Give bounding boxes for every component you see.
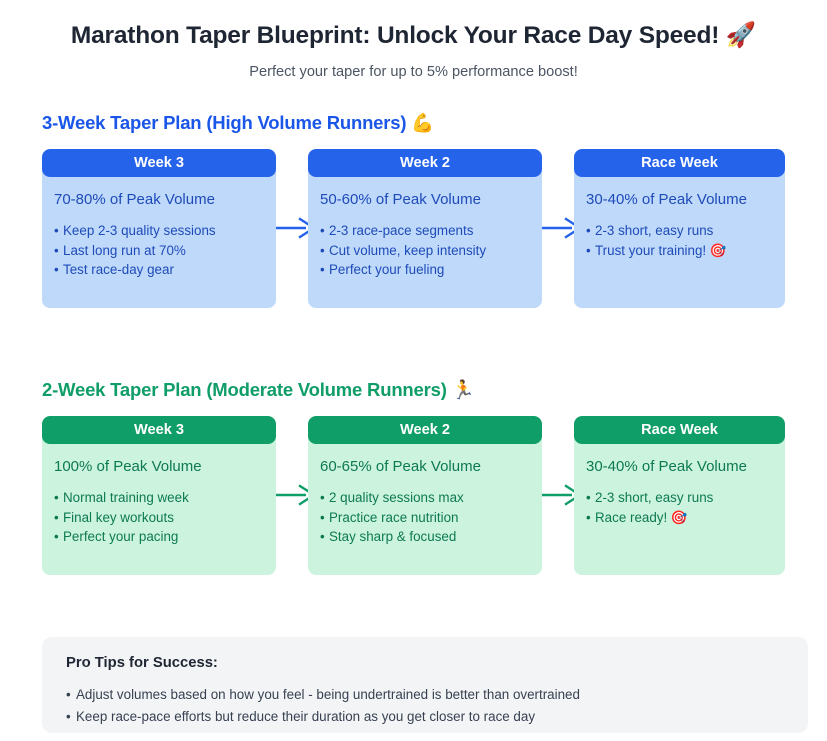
section-two-week-taper: 2-Week Taper Plan (Moderate Volume Runne… bbox=[0, 379, 827, 578]
list-item: Practice race nutrition bbox=[320, 508, 530, 528]
card-week-2-blue: Week 2 50-60% of Peak Volume 2-3 race-pa… bbox=[308, 149, 542, 308]
card-volume-text: 50-60% of Peak Volume bbox=[320, 191, 530, 209]
card-bullet-list: 2-3 short, easy runs Trust your training… bbox=[586, 221, 773, 260]
card-week-3-green: Week 3 100% of Peak Volume Normal traini… bbox=[42, 416, 276, 575]
list-item: 2 quality sessions max bbox=[320, 488, 530, 508]
card-header-label: Week 3 bbox=[42, 416, 276, 444]
card-body: 70-80% of Peak Volume Keep 2-3 quality s… bbox=[42, 177, 276, 280]
list-item: Keep race-pace efforts but reduce their … bbox=[66, 706, 784, 728]
list-item: 2-3 race-pace segments bbox=[320, 221, 530, 241]
list-item: Keep 2-3 quality sessions bbox=[54, 221, 264, 241]
cards-row-two-week: Week 3 100% of Peak Volume Normal traini… bbox=[42, 416, 785, 578]
list-item: Cut volume, keep intensity bbox=[320, 241, 530, 261]
card-bullet-list: Normal training week Final key workouts … bbox=[54, 488, 264, 547]
cards-row-three-week: Week 3 70-80% of Peak Volume Keep 2-3 qu… bbox=[42, 149, 785, 311]
section-three-week-taper: 3-Week Taper Plan (High Volume Runners) … bbox=[0, 112, 827, 311]
card-week-2-green: Week 2 60-65% of Peak Volume 2 quality s… bbox=[308, 416, 542, 575]
pro-tips-list: Adjust volumes based on how you feel - b… bbox=[66, 684, 784, 728]
card-body: 50-60% of Peak Volume 2-3 race-pace segm… bbox=[308, 177, 542, 280]
card-body: 60-65% of Peak Volume 2 quality sessions… bbox=[308, 444, 542, 547]
card-bullet-list: 2-3 race-pace segments Cut volume, keep … bbox=[320, 221, 530, 280]
card-week-3-blue: Week 3 70-80% of Peak Volume Keep 2-3 qu… bbox=[42, 149, 276, 308]
list-item: Last long run at 70% bbox=[54, 241, 264, 261]
card-body: 30-40% of Peak Volume 2-3 short, easy ru… bbox=[574, 444, 785, 527]
card-race-week-blue: Race Week 30-40% of Peak Volume 2-3 shor… bbox=[574, 149, 785, 308]
card-header-label: Race Week bbox=[574, 416, 785, 444]
list-item: Perfect your fueling bbox=[320, 260, 530, 280]
pro-tips-panel: Pro Tips for Success: Adjust volumes bas… bbox=[42, 637, 808, 733]
section-title-two-week: 2-Week Taper Plan (Moderate Volume Runne… bbox=[42, 379, 827, 401]
card-header-label: Race Week bbox=[574, 149, 785, 177]
card-body: 100% of Peak Volume Normal training week… bbox=[42, 444, 276, 547]
card-header-label: Week 2 bbox=[308, 149, 542, 177]
card-header-label: Week 2 bbox=[308, 416, 542, 444]
card-race-week-green: Race Week 30-40% of Peak Volume 2-3 shor… bbox=[574, 416, 785, 575]
list-item: Stay sharp & focused bbox=[320, 527, 530, 547]
section-title-three-week: 3-Week Taper Plan (High Volume Runners) … bbox=[42, 112, 827, 134]
card-bullet-list: Keep 2-3 quality sessions Last long run … bbox=[54, 221, 264, 280]
list-item: 2-3 short, easy runs bbox=[586, 221, 773, 241]
card-volume-text: 30-40% of Peak Volume bbox=[586, 458, 773, 476]
list-item: Final key workouts bbox=[54, 508, 264, 528]
card-bullet-list: 2-3 short, easy runs Race ready! 🎯 bbox=[586, 488, 773, 527]
card-header-label: Week 3 bbox=[42, 149, 276, 177]
list-item: Race ready! 🎯 bbox=[586, 508, 773, 528]
card-bullet-list: 2 quality sessions max Practice race nut… bbox=[320, 488, 530, 547]
list-item: Test race-day gear bbox=[54, 260, 264, 280]
list-item: Perfect your pacing bbox=[54, 527, 264, 547]
list-item: Adjust volumes based on how you feel - b… bbox=[66, 684, 784, 706]
page-title: Marathon Taper Blueprint: Unlock Your Ra… bbox=[0, 0, 827, 52]
list-item: Trust your training! 🎯 bbox=[586, 241, 773, 261]
card-body: 30-40% of Peak Volume 2-3 short, easy ru… bbox=[574, 177, 785, 260]
list-item: 2-3 short, easy runs bbox=[586, 488, 773, 508]
pro-tips-title: Pro Tips for Success: bbox=[66, 655, 784, 671]
card-volume-text: 60-65% of Peak Volume bbox=[320, 458, 530, 476]
card-volume-text: 100% of Peak Volume bbox=[54, 458, 264, 476]
infographic-page: Marathon Taper Blueprint: Unlock Your Ra… bbox=[0, 0, 827, 741]
list-item: Normal training week bbox=[54, 488, 264, 508]
card-volume-text: 30-40% of Peak Volume bbox=[586, 191, 773, 209]
page-subtitle: Perfect your taper for up to 5% performa… bbox=[0, 52, 827, 80]
card-volume-text: 70-80% of Peak Volume bbox=[54, 191, 264, 209]
